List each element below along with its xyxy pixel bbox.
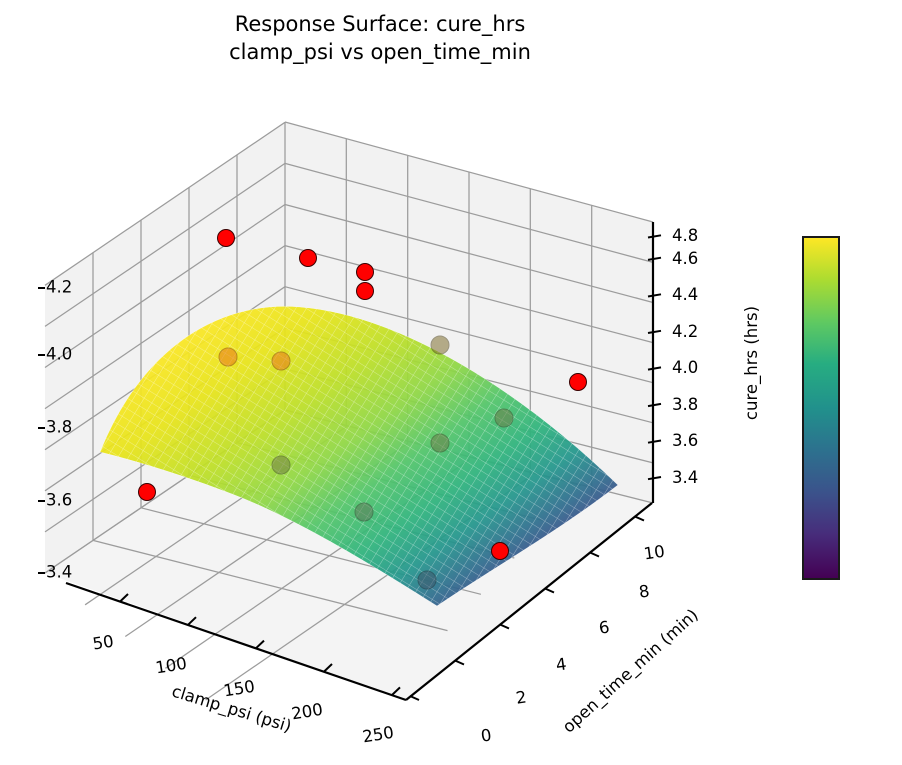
z-tick-label: 4.2 (672, 322, 698, 341)
x-tick-label: 100 (154, 654, 188, 678)
colorbar[interactable] (802, 236, 840, 580)
colorbar-tick-label: 3.4 (46, 563, 72, 582)
y-tick-label: 6 (598, 617, 611, 637)
colorbar-tick-mark (38, 572, 45, 574)
z-tick-labels: 3.4 3.6 3.8 4.0 4.2 4.4 4.6 4.8 (672, 226, 698, 487)
data-point (495, 409, 513, 427)
data-point (431, 336, 449, 354)
z-tick-label: 4.8 (672, 226, 698, 245)
x-tick-label: 200 (290, 700, 324, 724)
figure-canvas: Response Surface: cure_hrs clamp_psi vs … (0, 0, 902, 765)
data-point (570, 374, 587, 391)
data-point (418, 571, 436, 589)
data-point (272, 456, 290, 474)
data-point (431, 434, 449, 452)
y-tick-label: 10 (643, 542, 666, 564)
data-point (357, 264, 374, 281)
colorbar-gradient (804, 238, 838, 578)
y-axis-label: open_time_min (min) (559, 605, 703, 737)
data-point (357, 283, 374, 300)
data-point (355, 503, 373, 521)
z-tick-label: 4.4 (672, 285, 698, 304)
z-tick-label: 4.6 (672, 249, 698, 268)
colorbar-tick-label: 4.2 (46, 278, 72, 297)
colorbar-tick-label: 3.8 (46, 418, 72, 437)
y-tick-label: 8 (638, 581, 651, 601)
colorbar-tick-mark (38, 500, 45, 502)
y-tick-label: 4 (555, 654, 568, 674)
data-point (219, 348, 237, 366)
x-tick-label: 250 (361, 723, 395, 747)
z-tick-label: 3.8 (672, 395, 698, 414)
colorbar-tick-label: 3.6 (46, 491, 72, 510)
x-tick-label: 50 (91, 632, 115, 654)
z-tick-label: 3.6 (672, 431, 698, 450)
y-tick-label: 0 (480, 725, 493, 745)
plot-3d-axes: 50 100 150 200 250 0 2 4 6 8 10 3.4 3.6 … (0, 0, 902, 765)
z-tick-label: 4.0 (672, 358, 698, 377)
data-point (492, 543, 509, 560)
colorbar-tick-mark (38, 354, 45, 356)
colorbar-tick-mark (38, 427, 45, 429)
data-point (300, 250, 317, 267)
colorbar-tick-mark (38, 287, 45, 289)
z-tick-label: 3.4 (672, 468, 698, 487)
data-point (272, 352, 290, 370)
y-tick-label: 2 (515, 687, 528, 707)
data-point (218, 230, 235, 247)
data-point (139, 484, 156, 501)
colorbar-tick-label: 4.0 (46, 345, 72, 364)
z-axis-label: cure_hrs (hrs) (742, 306, 762, 420)
